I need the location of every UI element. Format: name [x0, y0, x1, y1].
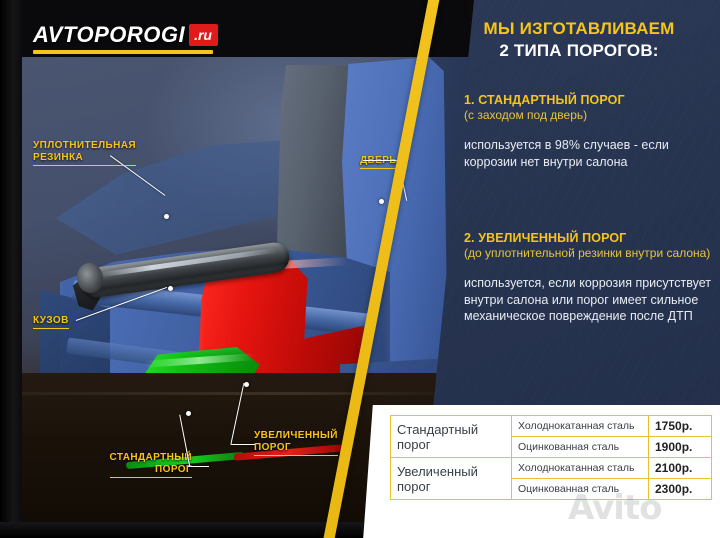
price-row-name-standard: Стандартный порог [391, 416, 512, 458]
info-block-enlarged: 2. УВЕЛИЧЕННЫЙ ПОРОГ (до уплотнительной … [464, 230, 714, 325]
price-row-material: Холоднокатанная сталь [512, 458, 649, 479]
info-block-standard: 1. СТАНДАРТНЫЙ ПОРОГ (с заходом под двер… [464, 92, 714, 170]
pane-title-line2: 2 ТИПА ПОРОГОВ: [448, 40, 710, 62]
price-row-material: Оцинкованная сталь [512, 437, 649, 458]
logo-wordmark: AVTOPOROGI [33, 22, 185, 48]
price-row-price: 2100р. [649, 458, 712, 479]
logo-tld-badge: .ru [189, 24, 218, 46]
leader-dot-enlarged [244, 382, 249, 387]
info-block-enlarged-body: используется, если коррозия присутствует… [464, 275, 714, 325]
leader-dot-door [379, 199, 384, 204]
callout-body: КУЗОВ [33, 303, 69, 329]
leader-door-h [363, 160, 399, 161]
info-block-standard-subheading: (с заходом под дверь) [464, 108, 714, 123]
table-row: Стандартный порог Холоднокатанная сталь … [391, 416, 712, 437]
logo-underline-bar [33, 50, 213, 54]
frame-bottom-border [0, 522, 378, 538]
pane-title: МЫ ИЗГОТАВЛИВАЕМ 2 ТИПА ПОРОГОВ: [448, 18, 710, 62]
callout-standard-label: СТАНДАРТНЫЙ ПОРОГ [110, 452, 193, 478]
price-row-name-enlarged: Увеличенный порог [391, 458, 512, 500]
leader-standard-h [188, 466, 209, 467]
leader-enlarged-h [231, 444, 255, 445]
callout-door-label: ДВЕРЬ [360, 155, 397, 169]
callout-seal: УПЛОТНИТЕЛЬНАЯ РЕЗИНКА [33, 128, 136, 166]
info-block-standard-heading: 1. СТАНДАРТНЫЙ ПОРОГ [464, 92, 714, 108]
info-block-standard-body: используется в 98% случаев - если корроз… [464, 137, 714, 170]
info-block-enlarged-subheading: (до уплотнительной резинки внутри салона… [464, 246, 714, 261]
info-block-enlarged-heading: 2. УВЕЛИЧЕННЫЙ ПОРОГ [464, 230, 714, 246]
promo-poster: УПЛОТНИТЕЛЬНАЯ РЕЗИНКА ДВЕРЬ КУЗОВ СТАНД… [0, 0, 720, 538]
leader-dot-body [168, 286, 173, 291]
price-row-material: Холоднокатанная сталь [512, 416, 649, 437]
leader-dot-seal [164, 214, 169, 219]
price-row-material: Оцинкованная сталь [512, 479, 649, 500]
frame-left-border [0, 0, 22, 538]
callout-enlarged: УВЕЛИЧЕННЫЙ ПОРОГ [254, 418, 338, 456]
ground-edge [22, 392, 470, 395]
price-row-price: 2300р. [649, 479, 712, 500]
table-row: Увеличенный порог Холоднокатанная сталь … [391, 458, 712, 479]
price-table: Стандартный порог Холоднокатанная сталь … [390, 415, 712, 500]
leader-dot-standard [186, 411, 191, 416]
callout-standard: СТАНДАРТНЫЙ ПОРОГ [92, 440, 192, 478]
price-row-price: 1750р. [649, 416, 712, 437]
callout-door: ДВЕРЬ [360, 143, 397, 169]
price-row-price: 1900р. [649, 437, 712, 458]
logo[interactable]: AVTOPOROGI .ru [33, 22, 218, 54]
callout-enlarged-label: УВЕЛИЧЕННЫЙ ПОРОГ [254, 430, 338, 456]
pane-title-line1: МЫ ИЗГОТАВЛИВАЕМ [448, 18, 710, 40]
callout-body-label: КУЗОВ [33, 315, 69, 329]
